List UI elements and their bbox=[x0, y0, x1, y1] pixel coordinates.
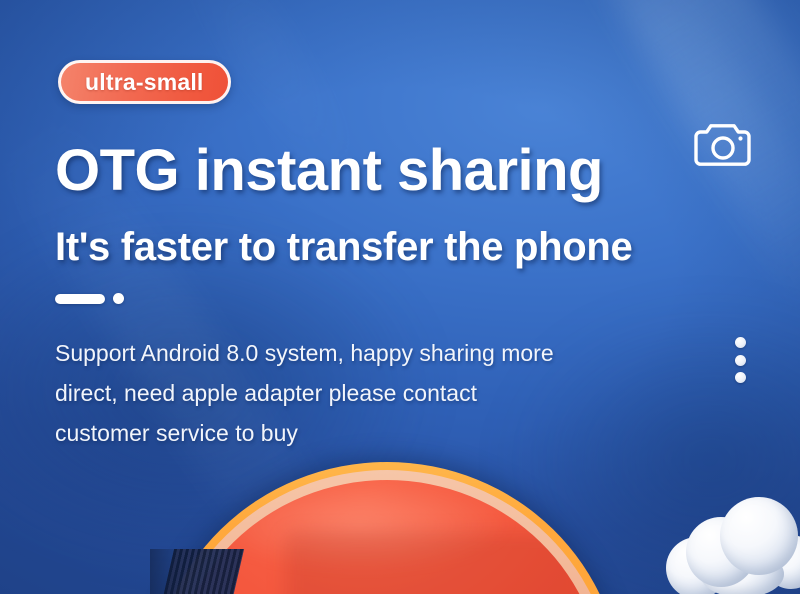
divider-dot bbox=[113, 293, 124, 304]
kebab-dot bbox=[735, 372, 746, 383]
promo-banner: ultra-small OTG instant sharing It's fas… bbox=[0, 0, 800, 594]
description-text: Support Android 8.0 system, happy sharin… bbox=[55, 333, 675, 453]
badge-label: ultra-small bbox=[85, 71, 204, 94]
kebab-dot bbox=[735, 337, 746, 348]
page-title: OTG instant sharing bbox=[55, 142, 603, 200]
divider bbox=[55, 293, 124, 304]
description-line: Support Android 8.0 system, happy sharin… bbox=[55, 333, 675, 373]
kebab-menu-icon[interactable] bbox=[734, 337, 746, 383]
ultra-small-badge: ultra-small bbox=[58, 60, 231, 104]
cloud-decoration bbox=[664, 493, 800, 594]
page-subtitle: It's faster to transfer the phone bbox=[55, 227, 632, 267]
dial-surface-shadow bbox=[285, 532, 585, 594]
speaker-grille bbox=[163, 549, 244, 594]
kebab-dot bbox=[735, 355, 746, 366]
divider-bar bbox=[55, 294, 105, 304]
camera-icon bbox=[692, 120, 754, 170]
description-line: customer service to buy bbox=[55, 413, 675, 453]
cloud-puff bbox=[720, 497, 798, 575]
description-line: direct, need apple adapter please contac… bbox=[55, 373, 675, 413]
